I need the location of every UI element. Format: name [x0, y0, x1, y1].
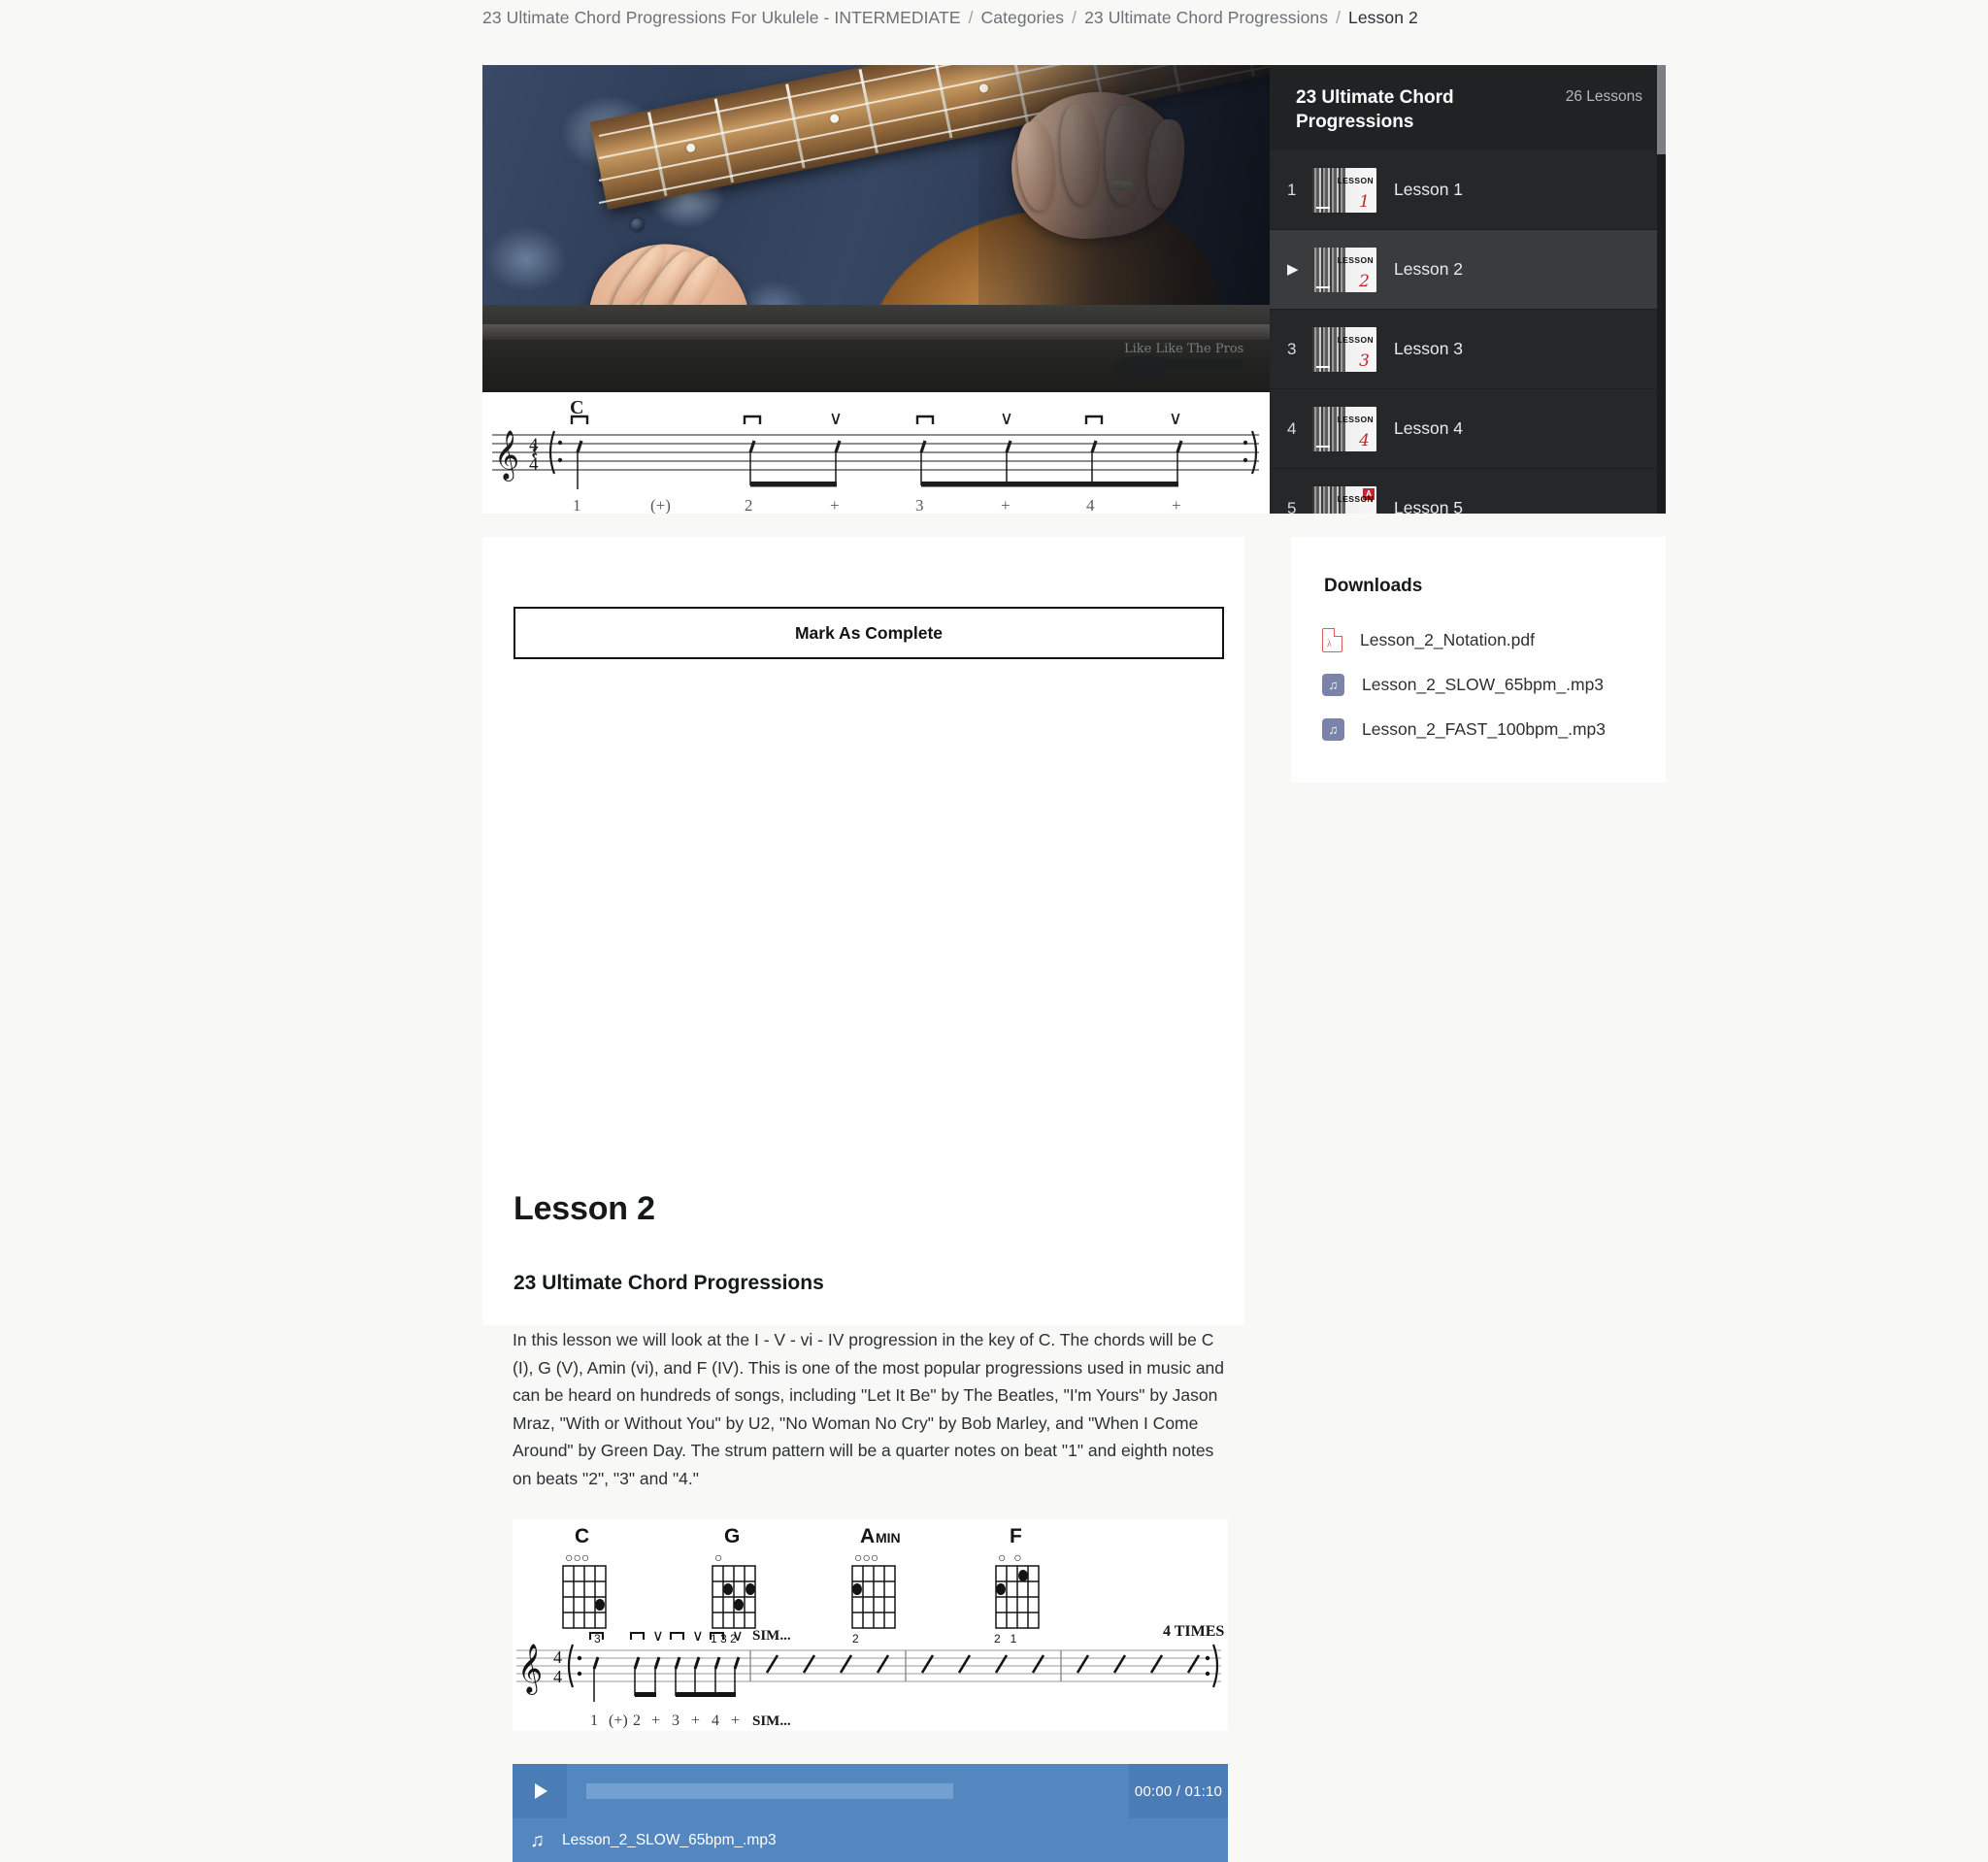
- svg-text:∨: ∨: [732, 1628, 744, 1645]
- svg-text:(+): (+): [609, 1712, 628, 1729]
- thumbnail-lesson-number: 4: [1359, 433, 1370, 449]
- download-file-name: Lesson_2_FAST_100bpm_.mp3: [1344, 719, 1606, 740]
- breadcrumb-item-course[interactable]: 23 Ultimate Chord Progressions For Ukule…: [482, 8, 961, 27]
- svg-text:𝄞: 𝄞: [517, 1644, 543, 1695]
- download-file-name: Lesson_2_SLOW_65bpm_.mp3: [1344, 675, 1604, 695]
- playlist-header: 23 Ultimate Chord Progressions 26 Lesson…: [1270, 65, 1666, 150]
- audio-player-controls: 00:00 / 01:10: [513, 1764, 1228, 1818]
- svg-text:F: F: [1010, 1525, 1022, 1547]
- svg-text:4: 4: [529, 435, 539, 455]
- playlist-item-thumbnail: LESSON 2: [1312, 248, 1376, 292]
- svg-text:+: +: [830, 496, 840, 514]
- playlist-item-thumbnail: LESSON 3: [1312, 327, 1376, 372]
- lesson-playlist[interactable]: 23 Ultimate Chord Progressions 26 Lesson…: [1270, 65, 1666, 514]
- svg-text:1: 1: [590, 1712, 598, 1729]
- svg-text:4: 4: [553, 1647, 562, 1667]
- playlist-title: 23 Ultimate Chord Progressions: [1296, 86, 1500, 134]
- breadcrumb-current-lesson: Lesson 2: [1348, 8, 1418, 27]
- ukulele-logo-neck-icon: [1165, 359, 1242, 368]
- svg-text:1: 1: [573, 496, 581, 514]
- shirt-button-icon: [631, 218, 644, 231]
- playlist-item-index: 3: [1283, 340, 1312, 359]
- thumbnail-highlight: [1316, 286, 1330, 288]
- svg-text:∨: ∨: [829, 409, 843, 429]
- svg-text:+: +: [651, 1712, 660, 1729]
- playlist-item-thumbnail: LESSON 1: [1312, 168, 1376, 213]
- playlist-item-lesson-3[interactable]: 3 LESSON 3 Lesson 3: [1270, 310, 1666, 389]
- bench-rail: [482, 324, 1270, 340]
- playlist-item-label: Lesson 3: [1376, 339, 1463, 359]
- svg-text:C: C: [575, 1525, 589, 1547]
- now-playing-icon: ▶: [1283, 262, 1312, 277]
- breadcrumb-separator: /: [1069, 8, 1079, 27]
- playlist-item-lesson-4[interactable]: 4 LESSON 4 Lesson 4: [1270, 389, 1666, 469]
- thumbnail-highlight: [1316, 207, 1330, 209]
- video-notation-overlay: 𝄞 𝄽 4 4 C ∨∨∨: [482, 392, 1270, 514]
- downloads-list: λ Lesson_2_Notation.pdf ♫ Lesson_2_SLOW_…: [1322, 617, 1652, 751]
- video-stage[interactable]: Like Like The Pros 𝄞 𝄽 4 4: [482, 65, 1270, 514]
- watermark-label: Like Like The Pros: [1124, 342, 1243, 356]
- chord-progression-figure: C ○○○ 3 G ○: [513, 1519, 1228, 1731]
- pdf-glyph: λ: [1327, 639, 1332, 649]
- playlist-item-lesson-2[interactable]: ▶ LESSON 2 Lesson 2: [1270, 230, 1666, 310]
- thumbnail-lesson-word: LESSON: [1338, 415, 1374, 424]
- downloads-title: Downloads: [1324, 576, 1422, 597]
- download-item-pdf[interactable]: λ Lesson_2_Notation.pdf: [1322, 617, 1652, 662]
- svg-text:○: ○: [714, 1549, 722, 1565]
- mp3-file-icon: ♫: [1322, 674, 1344, 696]
- svg-text:2: 2: [745, 496, 753, 514]
- svg-text:4: 4: [1086, 496, 1095, 514]
- pdf-file-icon: λ: [1322, 628, 1342, 652]
- svg-text:○○○: ○○○: [854, 1549, 878, 1565]
- audio-play-button[interactable]: [513, 1764, 567, 1818]
- thumbnail-lesson-word: LESSON: [1338, 176, 1374, 185]
- svg-text:4: 4: [712, 1712, 719, 1729]
- svg-text:𝄞: 𝄞: [494, 430, 519, 482]
- svg-text:∨: ∨: [652, 1628, 664, 1645]
- music-note-icon: ♫: [530, 1831, 545, 1850]
- svg-text:SIM...: SIM...: [752, 1628, 791, 1644]
- video-frame[interactable]: Like Like The Pros: [482, 65, 1270, 392]
- download-file-name: Lesson_2_Notation.pdf: [1342, 630, 1535, 650]
- svg-text:+: +: [731, 1712, 740, 1729]
- audio-progress-bar[interactable]: [586, 1783, 953, 1799]
- playlist-item-index: 5: [1283, 499, 1312, 515]
- playlist-item-label: Lesson 4: [1376, 418, 1463, 439]
- chord-notation-svg: C ○○○ 3 G ○: [513, 1519, 1228, 1731]
- svg-text:C: C: [570, 397, 583, 418]
- breadcrumb-separator: /: [1333, 8, 1343, 27]
- thumbnail-highlight: [1316, 366, 1330, 368]
- svg-text:+: +: [1001, 496, 1011, 514]
- thumbnail-lesson-word: LESSON: [1338, 255, 1374, 265]
- svg-text:MIN: MIN: [876, 1530, 901, 1546]
- playlist-item-lesson-5[interactable]: 5 A LESSON Lesson 5: [1270, 469, 1666, 514]
- video-watermark: Like Like The Pros: [1109, 342, 1256, 384]
- thumbnail-highlight: [1316, 446, 1330, 448]
- svg-text:○ ○: ○ ○: [998, 1549, 1022, 1565]
- playlist-item-thumbnail: A LESSON: [1312, 486, 1376, 515]
- svg-text:4: 4: [553, 1667, 562, 1686]
- svg-text:+: +: [691, 1712, 700, 1729]
- downloads-card: Downloads λ Lesson_2_Notation.pdf ♫ Less…: [1291, 537, 1666, 782]
- playlist-item-lesson-1[interactable]: 1 LESSON 1 Lesson 1: [1270, 150, 1666, 230]
- playlist-lesson-count: 26 Lessons: [1566, 86, 1642, 106]
- notation-staff-top: 𝄞 𝄽 4 4 C ∨∨∨: [482, 392, 1270, 514]
- lesson-subtitle: 23 Ultimate Chord Progressions: [514, 1272, 824, 1295]
- playlist-scrollbar[interactable]: [1657, 65, 1666, 514]
- mark-as-complete-button[interactable]: Mark As Complete: [514, 607, 1224, 659]
- breadcrumb-separator: /: [966, 8, 977, 27]
- page-title: Lesson 2: [514, 1190, 655, 1228]
- svg-text:∨: ∨: [1000, 409, 1013, 429]
- play-icon: [535, 1783, 547, 1799]
- thumbnail-lesson-word: LESSON: [1338, 494, 1374, 504]
- ukulele-logo-icon: [1114, 355, 1171, 381]
- download-item-mp3-fast[interactable]: ♫ Lesson_2_FAST_100bpm_.mp3: [1322, 707, 1652, 751]
- audio-player[interactable]: 00:00 / 01:10 ♫ Lesson_2_SLOW_65bpm_.mp3: [513, 1764, 1228, 1862]
- svg-text:3: 3: [915, 496, 924, 514]
- playlist-scrollbar-thumb[interactable]: [1657, 65, 1666, 154]
- playlist-item-label: Lesson 5: [1376, 498, 1463, 514]
- svg-text:3: 3: [672, 1712, 679, 1729]
- playlist-item-thumbnail: LESSON 4: [1312, 407, 1376, 451]
- lesson-content-card: Mark As Complete Lesson 2 23 Ultimate Ch…: [482, 537, 1244, 1325]
- thumbnail-lesson-number: 3: [1359, 353, 1370, 370]
- svg-text:SIM...: SIM...: [752, 1713, 791, 1729]
- breadcrumb-item-progressions[interactable]: 23 Ultimate Chord Progressions: [1084, 8, 1328, 27]
- playlist-item-label: Lesson 2: [1376, 259, 1463, 280]
- audio-file-name: Lesson_2_SLOW_65bpm_.mp3: [545, 1832, 777, 1849]
- thumbnail-lesson-number: 1: [1359, 194, 1370, 211]
- svg-text:2: 2: [852, 1632, 859, 1646]
- svg-text:+: +: [1172, 496, 1181, 514]
- download-item-mp3-slow[interactable]: ♫ Lesson_2_SLOW_65bpm_.mp3: [1322, 662, 1652, 707]
- svg-text:∨: ∨: [1169, 409, 1182, 429]
- playlist-item-index: 4: [1283, 419, 1312, 439]
- breadcrumb-item-categories[interactable]: Categories: [981, 8, 1065, 27]
- thumbnail-lesson-word: LESSON: [1338, 335, 1374, 345]
- svg-text:2 1: 2 1: [994, 1632, 1017, 1646]
- breadcrumb: 23 Ultimate Chord Progressions For Ukule…: [482, 8, 1418, 28]
- playlist-item-label: Lesson 1: [1376, 180, 1463, 200]
- lesson-description: In this lesson we will look at the I - V…: [513, 1326, 1228, 1492]
- thumbnail-lesson-number: 2: [1359, 274, 1370, 290]
- audio-file-row[interactable]: ♫ Lesson_2_SLOW_65bpm_.mp3: [513, 1818, 1228, 1862]
- playlist-item-index: 1: [1283, 181, 1312, 200]
- svg-text:(+): (+): [650, 496, 671, 514]
- mp3-file-icon: ♫: [1322, 718, 1344, 741]
- svg-text:4: 4: [529, 454, 539, 475]
- audio-time-display: 00:00 / 01:10: [1129, 1764, 1228, 1818]
- svg-text:3: 3: [594, 1632, 601, 1646]
- svg-text:2: 2: [633, 1712, 641, 1729]
- svg-text:∨: ∨: [692, 1628, 704, 1645]
- svg-text:○○○: ○○○: [565, 1549, 589, 1565]
- video-player-section: Like Like The Pros 𝄞 𝄽 4 4: [482, 65, 1666, 514]
- svg-text:G: G: [724, 1525, 740, 1547]
- svg-text:A: A: [860, 1525, 875, 1547]
- svg-text:4 TIMES: 4 TIMES: [1163, 1623, 1224, 1640]
